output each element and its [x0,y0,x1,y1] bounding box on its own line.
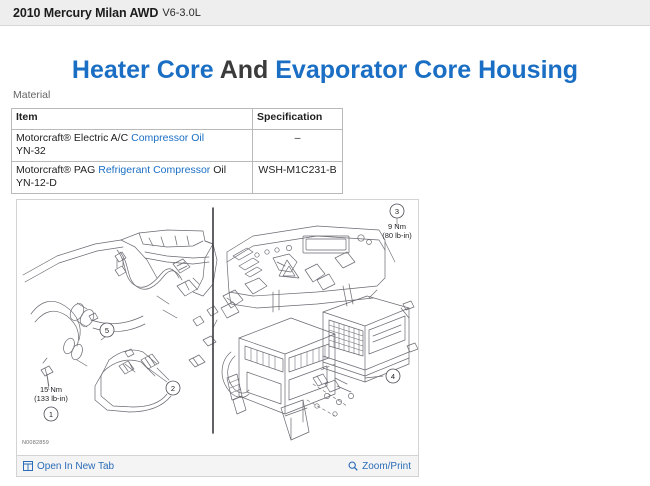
item-part-number: YN-32 [16,145,46,157]
column-header-item: Item [12,109,253,130]
callout-marker-3: 3 [395,207,399,216]
material-spec-cell: WSH-M1C231-B [253,162,343,194]
torque-spec-left-value: 15 Nm [40,385,62,394]
table-header-row: Item Specification [12,109,343,130]
table-row: Motorcraft® PAG Refrigerant Compressor O… [12,162,343,194]
item-part-number: YN-12-D [16,177,57,189]
item-link[interactable]: Compressor Oil [131,132,204,144]
vehicle-header-bar: 2010 Mercury Milan AWD V6-3.0L [0,0,650,26]
material-table: Item Specification Motorcraft® Electric … [11,108,343,194]
figure-panel: 15 Nm (133 lb-in) 1 2 5 3 9 Nm (80 lb-in… [16,199,419,477]
callout-marker-5: 5 [105,326,109,335]
material-spec-cell: – [253,130,343,162]
item-text-suffix: Oil [210,164,226,176]
zoom-print-button[interactable]: Zoom/Print [348,461,411,472]
technical-diagram[interactable]: 15 Nm (133 lb-in) 1 2 5 3 9 Nm (80 lb-in… [17,200,418,452]
table-row: Motorcraft® Electric A/C Compressor OilY… [12,130,343,162]
vehicle-name: 2010 Mercury Milan AWD [13,6,158,20]
callout-marker-2: 2 [171,384,175,393]
page-title-part-3: Evaporator Core Housing [275,56,578,84]
page-title-part-1: Heater Core [72,56,214,84]
material-item-cell: Motorcraft® Electric A/C Compressor OilY… [12,130,253,162]
material-section-label: Material [13,89,50,101]
page-title: Heater Core And Evaporator Core Housing [0,55,650,85]
zoom-print-label: Zoom/Print [362,461,411,472]
callout-marker-1: 1 [49,410,53,419]
magnifier-icon [348,461,358,471]
figure-image-id: N0082859 [22,440,49,446]
callout-marker-4: 4 [391,372,395,381]
column-header-specification: Specification [253,109,343,130]
torque-spec-left-alt: (133 lb-in) [34,394,68,403]
open-in-new-tab-button[interactable]: Open In New Tab [23,461,114,472]
new-window-icon [23,461,33,471]
vehicle-engine: V6-3.0L [162,7,201,19]
item-text-prefix: Motorcraft® PAG [16,164,98,176]
torque-spec-right-alt: (80 lb-in) [382,231,412,240]
page-title-part-2: And [220,56,269,84]
item-link[interactable]: Refrigerant Compressor [98,164,210,176]
figure-footer-bar: Open In New Tab Zoom/Print [17,455,418,476]
open-in-new-tab-label: Open In New Tab [37,461,114,472]
torque-spec-right-value: 9 Nm [388,222,406,231]
item-text-prefix: Motorcraft® Electric A/C [16,132,131,144]
material-item-cell: Motorcraft® PAG Refrigerant Compressor O… [12,162,253,194]
